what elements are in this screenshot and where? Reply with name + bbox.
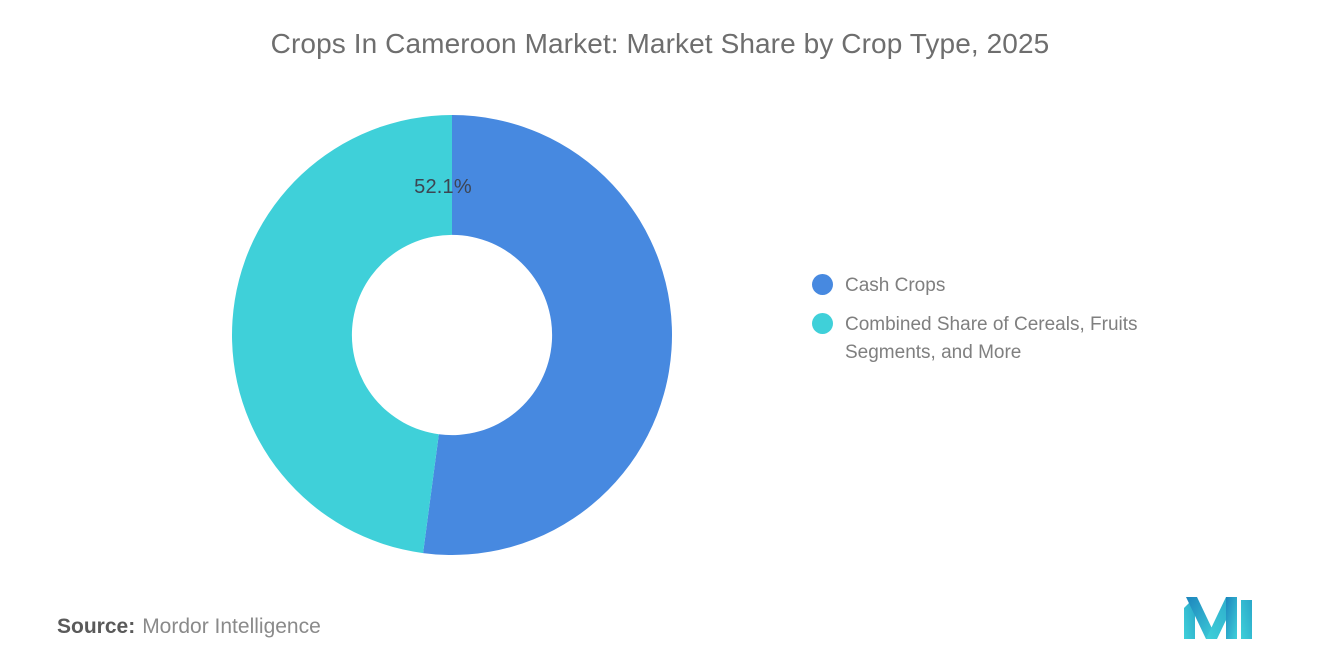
source-line: Source:Mordor Intelligence — [57, 612, 321, 642]
legend-item-cash-crops[interactable]: Cash Crops — [812, 272, 1242, 300]
donut-svg — [232, 115, 672, 555]
legend-color-swatch-icon — [812, 274, 833, 295]
source-value: Mordor Intelligence — [142, 615, 321, 638]
chart-legend: Cash Crops Combined Share of Cereals, Fr… — [812, 272, 1242, 378]
source-label: Source: — [57, 615, 135, 638]
legend-color-swatch-icon — [812, 313, 833, 334]
legend-item-label: Combined Share of Cereals, Fruits Segmen… — [845, 311, 1217, 367]
chart-title: Crops In Cameroon Market: Market Share b… — [0, 28, 1320, 60]
legend-item-combined-share[interactable]: Combined Share of Cereals, Fruits Segmen… — [812, 311, 1242, 367]
chart-container: Crops In Cameroon Market: Market Share b… — [0, 0, 1320, 665]
legend-item-label: Cash Crops — [845, 272, 945, 300]
donut-chart — [232, 115, 672, 555]
mordor-intelligence-logo-icon — [1184, 597, 1252, 639]
donut-slice-combined-share[interactable] — [232, 115, 452, 553]
donut-slice-cash-crops[interactable] — [423, 115, 672, 555]
